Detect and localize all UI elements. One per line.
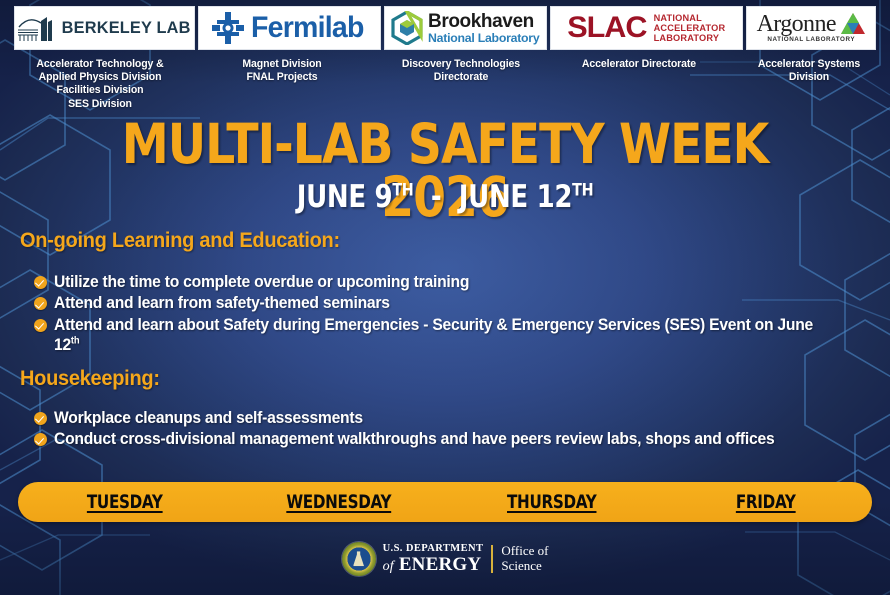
section-heading-housekeeping: Housekeeping: [20,366,160,391]
brookhaven-hex-icon [391,11,423,45]
day-tuesday[interactable]: TUESDAY [39,491,210,513]
division-label-berkeley: Accelerator Technology & Applied Physics… [15,58,184,111]
argonne-triangle-icon [840,12,866,36]
slac-wordmark: SLAC [567,13,646,43]
lab-logo-strip: BERKELEY LAB Fermilab [14,6,876,50]
fermilab-wordmark: Fermilab [251,13,364,43]
berkeley-lab-logo: BERKELEY LAB [14,6,195,50]
slac-sub-laboratory: LABORATORY [654,33,726,43]
list-item: Attend and learn about Safety during Eme… [34,315,868,356]
doe-of-word: of [383,559,394,574]
check-circle-icon [34,319,47,332]
check-circle-icon [34,276,47,289]
brookhaven-subtitle: National Laboratory [428,32,539,44]
brookhaven-wordmark: Brookhaven [428,12,539,31]
date-start-ordinal: TH [392,181,413,201]
science-label: Science [501,559,548,574]
bullet-list-housekeeping: Workplace cleanups and self-assessments … [34,408,868,451]
doe-energy-label: of ENERGY [383,555,484,574]
section-heading-learning: On-going Learning and Education: [20,228,340,253]
list-item: Utilize the time to complete overdue or … [34,272,868,292]
list-item: Attend and learn from safety-themed semi… [34,293,868,313]
bullet-text: Conduct cross-divisional management walk… [54,429,774,449]
date-separator: - JUNE 12 [413,179,572,215]
bullet-text: Attend and learn about Safety during Eme… [54,316,813,354]
day-friday[interactable]: FRIDAY [680,491,851,513]
division-label-argonne: Accelerator Systems Division [735,58,884,84]
list-item: Workplace cleanups and self-assessments [34,408,868,428]
doe-footer: U.S. DEPARTMENT of ENERGY Office of Scie… [0,542,890,576]
list-item: Conduct cross-divisional management walk… [34,429,868,449]
division-label-slac: Accelerator Directorate [553,58,724,71]
berkeley-lab-wordmark: BERKELEY LAB [62,18,191,38]
date-end-ordinal: TH [572,181,593,201]
check-circle-icon [34,412,47,425]
bullet-list-learning: Utilize the time to complete overdue or … [34,272,868,356]
bullet-text: Workplace cleanups and self-assessments [54,408,363,428]
day-thursday[interactable]: THURSDAY [466,491,637,513]
weekday-bar: TUESDAY WEDNESDAY THURSDAY FRIDAY [18,482,872,522]
bullet-text: Utilize the time to complete overdue or … [54,272,469,292]
bullet-text-wrapper: Attend and learn about Safety during Eme… [54,315,831,356]
day-wednesday[interactable]: WEDNESDAY [253,491,424,513]
bullet-ordinal: th [71,336,79,347]
fermilab-logo: Fermilab [198,6,381,50]
date-start: JUNE 9 [297,179,393,215]
check-circle-icon [34,297,47,310]
fermilab-symbol-icon [211,11,245,45]
safety-week-poster: BERKELEY LAB Fermilab [0,0,890,595]
argonne-logo: Argonne NATIONAL LABORATORY [746,6,876,50]
doe-department-label: U.S. DEPARTMENT [383,544,484,555]
division-label-brookhaven: Discovery Technologies Directorate [380,58,542,84]
division-label-fermilab: Magnet Division FNAL Projects [197,58,366,84]
poster-date-range: JUNE 9TH - JUNE 12TH [71,182,819,213]
slac-logo: SLAC NATIONAL ACCELERATOR LABORATORY [550,6,744,50]
argonne-subtitle: NATIONAL LABORATORY [767,37,855,43]
brookhaven-logo: Brookhaven National Laboratory [384,6,547,50]
doe-energy-word: ENERGY [399,554,482,575]
bullet-text: Attend and learn from safety-themed semi… [54,293,390,313]
berkeley-dome-icon [15,13,55,43]
slac-sub-accelerator: ACCELERATOR [654,23,726,33]
doe-seal-icon [342,542,376,576]
doe-divider [491,545,493,573]
slac-sub-national: NATIONAL [654,13,726,23]
office-of-label: Office of [501,544,548,559]
argonne-wordmark: Argonne [757,12,836,36]
check-circle-icon [34,433,47,446]
division-labels-row: Accelerator Technology & Applied Physics… [0,58,890,106]
